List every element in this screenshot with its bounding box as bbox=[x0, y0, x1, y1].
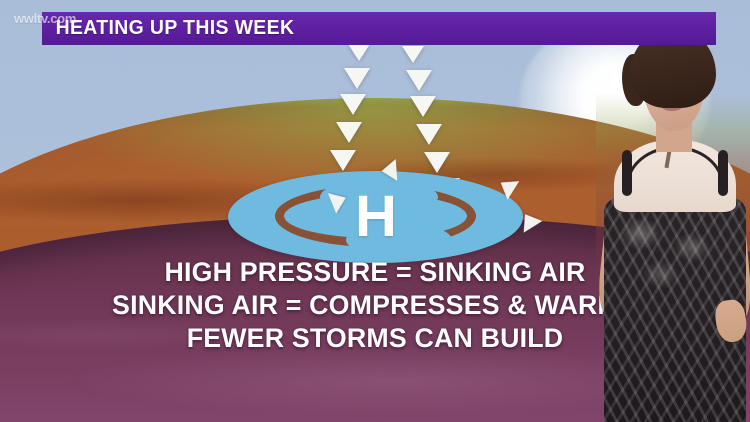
chevron-down-icon bbox=[416, 124, 442, 145]
station-watermark: wwltv.com bbox=[14, 11, 76, 26]
presenter bbox=[596, 0, 750, 422]
high-pressure-symbol: H bbox=[228, 171, 523, 263]
presenter-strap-left bbox=[622, 150, 632, 196]
broadcast-screenshot: H HIGH PRESSURE = SINKING AIR SINKING AI… bbox=[0, 0, 750, 422]
chevron-down-icon bbox=[410, 96, 436, 117]
title-text: HEATING UP THIS WEEK bbox=[42, 17, 294, 40]
chevron-down-icon bbox=[406, 70, 432, 91]
pressure-letter: H bbox=[228, 171, 523, 263]
title-banner: HEATING UP THIS WEEK bbox=[42, 12, 716, 45]
chevron-down-icon bbox=[402, 46, 424, 63]
presenter-strap-right bbox=[718, 150, 728, 196]
chevron-down-icon bbox=[424, 152, 450, 173]
